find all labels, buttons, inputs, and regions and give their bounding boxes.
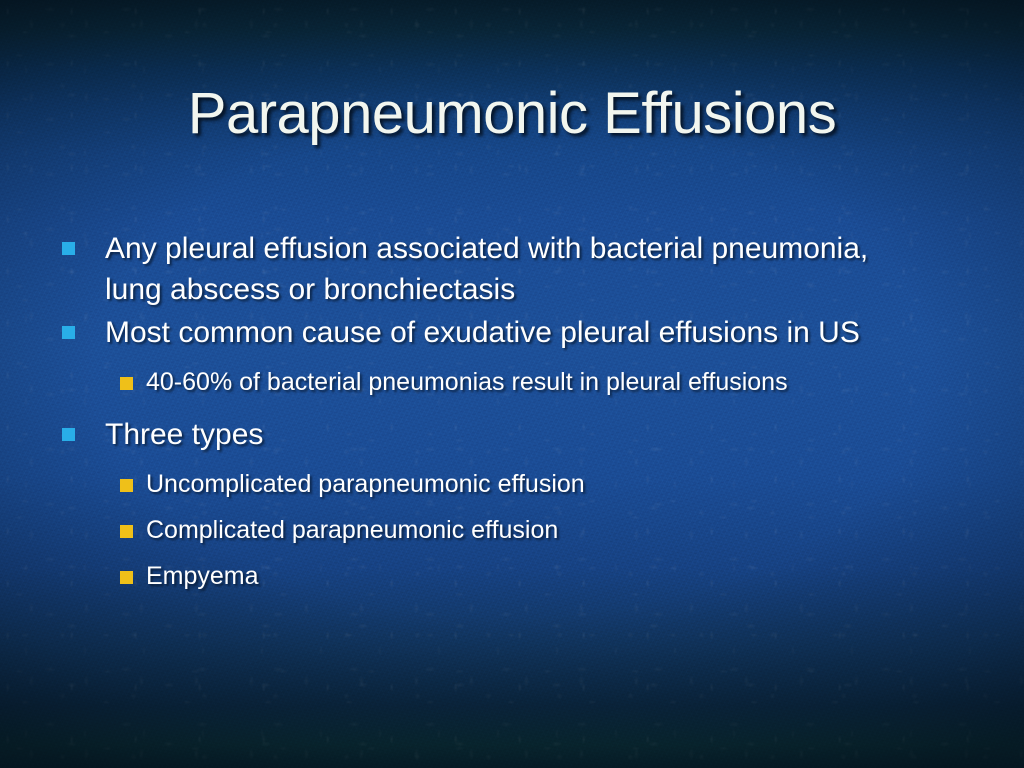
bullet-text: Any pleural effusion associated with bac…: [105, 228, 905, 310]
slide-body-bullet-list: Any pleural effusion associated with bac…: [62, 228, 984, 595]
presentation-slide: Parapneumonic Effusions Any pleural effu…: [0, 0, 1024, 768]
bullet-item-level2: Complicated parapneumonic effusion: [120, 512, 984, 548]
bullet-text: 40-60% of bacterial pneumonias result in…: [146, 364, 788, 400]
bullet-spacer: [62, 355, 984, 364]
bullet-item-level2: Empyema: [120, 558, 984, 594]
bullet-item-level1: Three types: [62, 414, 984, 455]
square-bullet-gold-icon: [120, 479, 133, 492]
bullet-text: Empyema: [146, 558, 259, 594]
bullet-text: Complicated parapneumonic effusion: [146, 512, 558, 548]
square-bullet-gold-icon: [120, 571, 133, 584]
bullet-spacer: [62, 457, 984, 466]
bullet-item-level2: 40-60% of bacterial pneumonias result in…: [120, 364, 984, 400]
square-bullet-cyan-icon: [62, 242, 75, 255]
bullet-spacer: [62, 503, 984, 512]
slide-title: Parapneumonic Effusions: [0, 84, 1024, 145]
bullet-item-level2: Uncomplicated parapneumonic effusion: [120, 466, 984, 502]
bullet-text: Three types: [105, 414, 263, 455]
bullet-text: Uncomplicated parapneumonic effusion: [146, 466, 585, 502]
bullet-spacer: [62, 401, 984, 414]
square-bullet-gold-icon: [120, 377, 133, 390]
bullet-spacer: [62, 549, 984, 558]
square-bullet-gold-icon: [120, 525, 133, 538]
bullet-item-level1: Most common cause of exudative pleural e…: [62, 312, 984, 353]
bullet-text: Most common cause of exudative pleural e…: [105, 312, 860, 353]
square-bullet-cyan-icon: [62, 428, 75, 441]
slide-content: Parapneumonic Effusions Any pleural effu…: [0, 0, 1024, 768]
bullet-item-level1: Any pleural effusion associated with bac…: [62, 228, 984, 310]
square-bullet-cyan-icon: [62, 326, 75, 339]
